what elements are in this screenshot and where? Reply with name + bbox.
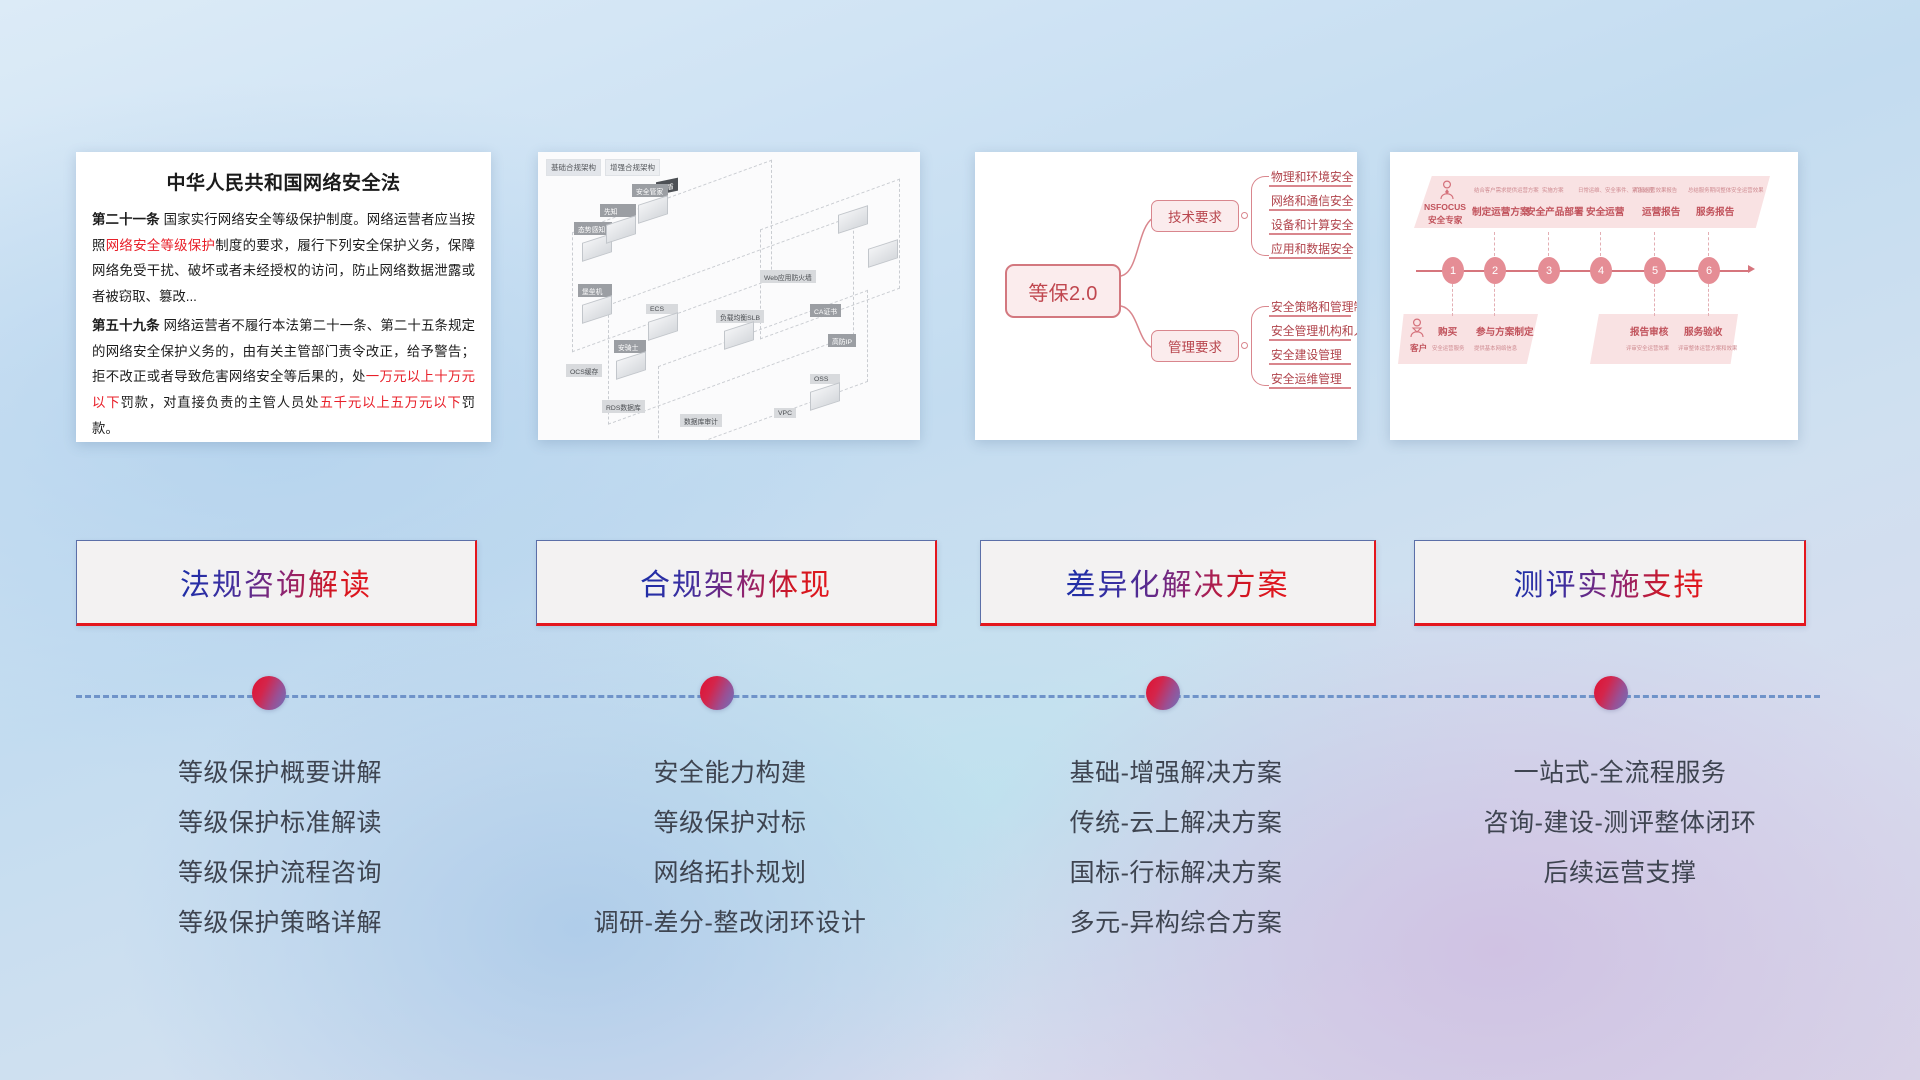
process-timeline xyxy=(0,690,1920,730)
architecture-chip-anqishi: 安骑士 xyxy=(614,340,646,353)
architecture-node-rds: RDS数据库 xyxy=(602,400,645,413)
list-item: 等级保护策略详解 xyxy=(70,898,490,948)
mindmap-leaf-physical: 物理和环境安全 xyxy=(1271,168,1354,185)
timeline-marker-4[interactable] xyxy=(1594,676,1628,710)
mindmap-branch-technical[interactable]: 技术要求 xyxy=(1151,200,1239,232)
timeline-node-1[interactable]: 1 xyxy=(1442,257,1464,284)
timeline-dash-4 xyxy=(1600,232,1601,256)
architecture-tab-basic[interactable]: 基础合规架构 xyxy=(546,159,601,176)
mindmap-leaf-application: 应用和数据安全 xyxy=(1271,240,1354,257)
architecture-chip-db-audit: 数据库审计 xyxy=(680,414,722,427)
mindmap-leaf-line-ops xyxy=(1269,387,1351,389)
list-item: 调研-差分-整改闭环设计 xyxy=(520,898,940,948)
card-cybersecurity-law[interactable]: 中华人民共和国网络安全法 第二十一条 国家实行网络安全等级保护制度。网络运营者应… xyxy=(76,152,491,442)
architecture-node-vpc: VPC xyxy=(774,408,796,418)
mindmap-leaf-line-device xyxy=(1269,233,1351,235)
timeline-node-3[interactable]: 3 xyxy=(1538,257,1560,284)
architecture-node-slb: 负载均衡SLB xyxy=(716,310,764,345)
architecture-chip-manager: 安全管家 xyxy=(632,184,668,197)
architecture-node-waf: Web应用防火墙 xyxy=(760,270,816,283)
law-article-21: 第二十一条 国家实行网络安全等级保护制度。网络运营者应当按照网络安全等级保护制度… xyxy=(92,207,475,310)
timeline-marker-3[interactable] xyxy=(1146,676,1180,710)
list-item: 基础-增强解决方案 xyxy=(966,748,1386,798)
architecture-tabs: 基础合规架构 增强合规架构 xyxy=(546,159,660,176)
list-item: 安全能力构建 xyxy=(520,748,940,798)
architecture-chip-ocs: OCS缓存 xyxy=(566,364,602,377)
card-mindmap-dengbao[interactable]: 等保2.0 技术要求 物理和环境安全 网络和通信安全 设备和计算安全 应用和数据… xyxy=(975,152,1357,440)
architecture-tab-enhanced[interactable]: 增强合规架构 xyxy=(605,159,660,176)
mindmap-leaf-line-policy xyxy=(1269,315,1351,317)
timeline-marker-2[interactable] xyxy=(700,676,734,710)
timeline-bottom-sub-4: 评审整体运营方案和效果 xyxy=(1678,344,1737,352)
law-article-59: 第五十九条 网络运营者不履行本法第二十一条、第二十五条规定的网络安全保护义务的，… xyxy=(92,313,475,442)
timeline-bottom-title-2: 参与方案制定 xyxy=(1476,324,1534,338)
law-article-59-text-mid: 罚款，对直接负责的主管人员处 xyxy=(120,395,319,410)
customer-label: 客户 xyxy=(1410,342,1427,354)
list-item: 等级保护对标 xyxy=(520,798,940,848)
card-cloud-architecture[interactable]: 基础合规架构 增强合规架构 云盾 态势感知 先知 安全管家 xyxy=(538,152,920,440)
list-item: 网络拓扑规划 xyxy=(520,848,940,898)
architecture-node-db-audit: 数据库审计 xyxy=(680,414,722,427)
architecture-chip-waf: Web应用防火墙 xyxy=(760,270,816,283)
law-article-59-label: 第五十九条 xyxy=(92,318,160,333)
timeline-top-sub-5: 总结服务期间整体安全运营效果 xyxy=(1688,186,1763,194)
mindmap-leaf-line-build xyxy=(1269,363,1351,365)
mindmap-leaf-org: 安全管理机构和人员 xyxy=(1271,322,1357,339)
timeline-band-bottom-right xyxy=(1590,314,1738,364)
detail-list-compliance-architecture: 安全能力构建 等级保护对标 网络拓扑规划 调研-差分-整改闭环设计 xyxy=(520,748,940,948)
expert-label-line1: NSFOCUS xyxy=(1424,202,1466,212)
timeline-dash-5b xyxy=(1654,284,1655,316)
list-item: 一站式-全流程服务 xyxy=(1410,748,1830,798)
mindmap: 等保2.0 技术要求 物理和环境安全 网络和通信安全 设备和计算安全 应用和数据… xyxy=(975,152,1357,440)
architecture-node-ecs: ECS xyxy=(646,304,678,336)
timeline-dashed-line xyxy=(76,695,1820,698)
timeline-dash-2b xyxy=(1494,284,1495,316)
law-article-21-highlight: 网络安全等级保护 xyxy=(106,238,216,253)
architecture-chip-slb: 负载均衡SLB xyxy=(716,310,764,323)
mindmap-fan-technical xyxy=(1251,176,1269,256)
list-item: 多元-异构综合方案 xyxy=(966,898,1386,948)
timeline-top-sub-1: 结合客户需求提供运营方案 xyxy=(1474,186,1539,194)
timeline-bottom-title-4: 服务验收 xyxy=(1684,324,1722,338)
customer-person-icon xyxy=(1408,318,1426,338)
architecture-node-ops xyxy=(868,244,898,263)
mindmap-branch-management[interactable]: 管理要求 xyxy=(1151,330,1239,362)
mindmap-leaf-line-network xyxy=(1269,209,1351,211)
timeline-dash-6b xyxy=(1708,284,1709,316)
timeline-top-title-3: 安全运营 xyxy=(1586,204,1624,218)
law-body: 第二十一条 国家实行网络安全等级保护制度。网络运营者应当按照网络安全等级保护制度… xyxy=(76,207,491,442)
timeline-top-title-2: 安全产品部署 xyxy=(1526,204,1584,218)
mindmap-dot-technical xyxy=(1241,212,1248,219)
architecture-chip-ca: CA证书 xyxy=(810,304,841,317)
mindmap-dot-management xyxy=(1241,342,1248,349)
service-timeline-diagram: NSFOCUS 安全专家 客户 1 2 3 4 5 6 xyxy=(1390,152,1798,440)
architecture-node-anqishi: 安骑士 xyxy=(614,340,646,375)
architecture-node-ca: CA证书 xyxy=(810,304,841,317)
timeline-node-4[interactable]: 4 xyxy=(1590,257,1612,284)
heading-box-evaluation-support[interactable]: 测评实施支持 xyxy=(1414,540,1806,626)
timeline-top-sub-4: 阶段运营效果报告 xyxy=(1634,186,1677,194)
timeline-dash-3 xyxy=(1548,232,1549,256)
timeline-top-title-4: 运营报告 xyxy=(1642,204,1680,218)
timeline-dash-5 xyxy=(1654,232,1655,256)
mindmap-leaf-line-org xyxy=(1269,339,1351,341)
timeline-dash-2 xyxy=(1494,232,1495,256)
detail-list-differentiated-solution: 基础-增强解决方案 传统-云上解决方案 国标-行标解决方案 多元-异构综合方案 xyxy=(966,748,1386,948)
timeline-bottom-title-3: 报告审核 xyxy=(1630,324,1668,338)
timeline-dash-1 xyxy=(1452,284,1453,316)
card-service-timeline[interactable]: NSFOCUS 安全专家 客户 1 2 3 4 5 6 xyxy=(1390,152,1798,440)
timeline-marker-1[interactable] xyxy=(252,676,286,710)
list-item: 国标-行标解决方案 xyxy=(966,848,1386,898)
timeline-node-5[interactable]: 5 xyxy=(1644,257,1666,284)
list-item: 传统-云上解决方案 xyxy=(966,798,1386,848)
mindmap-leaf-line-application xyxy=(1269,257,1351,259)
timeline-dash-6 xyxy=(1708,232,1709,256)
timeline-bottom-title-1: 购买 xyxy=(1438,324,1457,338)
list-item: 后续运营支撑 xyxy=(1410,848,1830,898)
heading-boxes-row: 法规咨询解读 合规架构体现 差异化解决方案 测评实施支持 xyxy=(0,540,1920,660)
architecture-node-antiddos: 高防IP xyxy=(828,334,856,347)
expert-label-line2: 安全专家 xyxy=(1428,214,1462,226)
mindmap-leaf-device: 设备和计算安全 xyxy=(1271,216,1354,233)
detail-lists-row: 等级保护概要讲解 等级保护标准解读 等级保护流程咨询 等级保护策略详解 安全能力… xyxy=(0,738,1920,998)
detail-list-evaluation-support: 一站式-全流程服务 咨询-建设-测评整体闭环 后续运营支撑 xyxy=(1410,748,1830,898)
architecture-node-ocs: OCS缓存 xyxy=(566,364,602,377)
heading-label-evaluation-support: 测评实施支持 xyxy=(1514,560,1706,604)
expert-person-icon xyxy=(1438,180,1456,200)
detail-list-regulation-consulting: 等级保护概要讲解 等级保护标准解读 等级保护流程咨询 等级保护策略详解 xyxy=(70,748,490,948)
heading-box-compliance-architecture[interactable]: 合规架构体现 xyxy=(536,540,937,626)
mindmap-leaf-network: 网络和通信安全 xyxy=(1271,192,1354,209)
heading-label-regulation-consulting: 法规咨询解读 xyxy=(180,560,372,604)
architecture-chip-rds: RDS数据库 xyxy=(602,400,645,413)
heading-box-differentiated-solution[interactable]: 差异化解决方案 xyxy=(980,540,1376,626)
list-item: 等级保护概要讲解 xyxy=(70,748,490,798)
architecture-node-manager: 安全管家 xyxy=(632,184,668,219)
timeline-axis-arrow xyxy=(1748,265,1755,273)
heading-box-regulation-consulting[interactable]: 法规咨询解读 xyxy=(76,540,477,626)
list-item: 等级保护标准解读 xyxy=(70,798,490,848)
timeline-band-top xyxy=(1414,176,1770,228)
architecture-chip-vpc: VPC xyxy=(774,408,796,418)
heading-label-compliance-architecture: 合规架构体现 xyxy=(640,560,832,604)
mindmap-leaf-line-physical xyxy=(1269,185,1351,187)
timeline-bottom-sub-1: 安全运营服务 xyxy=(1432,344,1464,352)
mindmap-fan-management xyxy=(1251,306,1269,386)
timeline-top-sub-2: 实施方案 xyxy=(1542,186,1564,194)
architecture-chip-antiddos: 高防IP xyxy=(828,334,856,347)
architecture-node-bastion: 堡垒机 xyxy=(578,284,612,319)
law-article-21-label: 第二十一条 xyxy=(92,212,160,227)
timeline-bottom-sub-3: 评审安全运营效果 xyxy=(1626,344,1669,352)
law-article-59-fine-2: 五千元以上五万元以下 xyxy=(319,395,461,410)
timeline-node-6[interactable]: 6 xyxy=(1698,257,1720,284)
list-item: 咨询-建设-测评整体闭环 xyxy=(1410,798,1830,848)
architecture-chip-bastion: 堡垒机 xyxy=(578,284,612,297)
preview-cards-row: 中华人民共和国网络安全法 第二十一条 国家实行网络安全等级保护制度。网络运营者应… xyxy=(0,0,1920,460)
architecture-diagram: 基础合规架构 增强合规架构 云盾 态势感知 先知 安全管家 xyxy=(538,152,920,440)
timeline-bottom-sub-2: 提供基本网络信息 xyxy=(1474,344,1517,352)
mindmap-leaf-build: 安全建设管理 xyxy=(1271,346,1342,363)
list-item: 等级保护流程咨询 xyxy=(70,848,490,898)
timeline-top-title-5: 服务报告 xyxy=(1696,204,1734,218)
mindmap-leaf-policy: 安全策略和管理制度 xyxy=(1271,298,1357,315)
architecture-node-xianzhi: 先知 xyxy=(600,204,636,239)
mindmap-leaf-ops: 安全运维管理 xyxy=(1271,370,1342,387)
architecture-chip-xianzhi: 先知 xyxy=(600,204,636,217)
architecture-node-log xyxy=(838,210,868,229)
timeline-top-title-1: 制定运营方案 xyxy=(1472,204,1530,218)
law-title: 中华人民共和国网络安全法 xyxy=(76,168,491,195)
timeline-node-2[interactable]: 2 xyxy=(1484,257,1506,284)
architecture-node-oss: OSS xyxy=(810,374,840,406)
heading-label-differentiated-solution: 差异化解决方案 xyxy=(1066,560,1290,604)
